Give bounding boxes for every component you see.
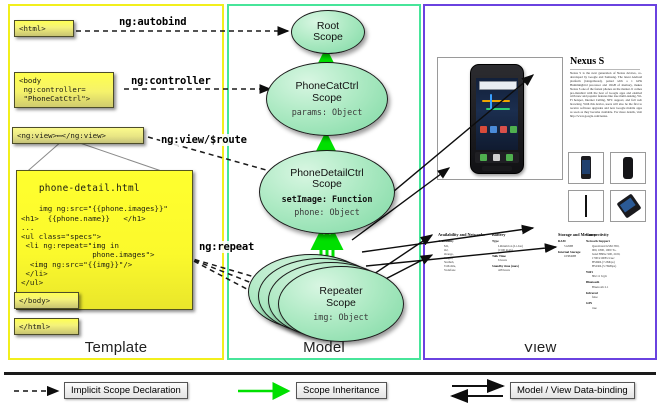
- diagram-canvas: Template Model View: [0, 0, 660, 420]
- legend-arrow-layer: [0, 0, 660, 420]
